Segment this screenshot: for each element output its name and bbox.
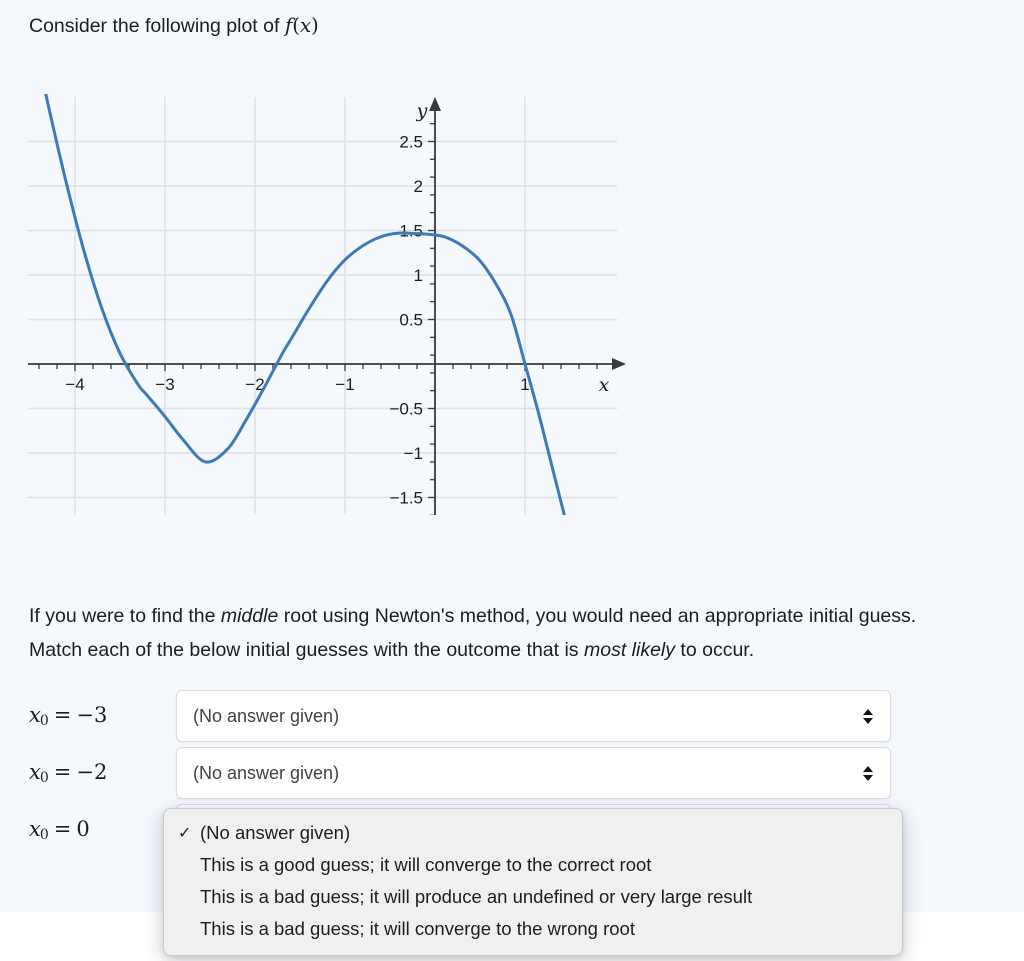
guess-subscript-1: 0	[40, 770, 49, 786]
y-axis-title: y	[416, 100, 428, 122]
dropdown-option-2[interactable]: This is a bad guess; it will produce an …	[164, 881, 902, 913]
dropdown-option-0[interactable]: ✓(No answer given)	[164, 817, 902, 849]
function-curve	[35, 45, 566, 515]
guess-subscript-0: 0	[40, 713, 49, 729]
initial-guess-label-2: x0=0	[29, 817, 176, 844]
y-tick-label: 1	[414, 266, 423, 285]
outcome-dropdown-menu[interactable]: ✓(No answer given)This is a good guess; …	[163, 808, 903, 956]
chevron-updown-icon[interactable]	[862, 705, 874, 727]
x-tick-label: −1	[335, 375, 354, 394]
initial-guess-label-0: x0=−3	[29, 703, 176, 730]
function-curve-path	[35, 45, 566, 515]
chevron-updown-icon[interactable]	[862, 762, 874, 784]
x-axis-arrow	[612, 358, 626, 370]
outcome-select-value-0: (No answer given)	[193, 706, 862, 727]
question-emphasis-most-likely: most likely	[584, 639, 675, 661]
y-tick-label: 2.5	[399, 133, 423, 152]
paren-open: (	[292, 14, 300, 37]
prompt-lead-text: Consider the following plot of	[29, 15, 285, 37]
y-axis-arrow	[429, 97, 441, 111]
question-part-3: to occur.	[675, 639, 754, 661]
guess-equals-1: =	[54, 760, 72, 784]
guess-value-0: −3	[76, 703, 107, 727]
guess-value-2: 0	[76, 817, 89, 841]
dropdown-option-3[interactable]: This is a bad guess; it will converge to…	[164, 913, 902, 945]
y-tick-label: −1.5	[389, 489, 423, 508]
guess-equals-0: =	[54, 703, 72, 727]
question-part-1: If you were to find the	[29, 605, 221, 627]
guess-subscript-2: 0	[40, 827, 49, 843]
dropdown-option-1[interactable]: This is a good guess; it will converge t…	[164, 849, 902, 881]
guess-value-1: −2	[76, 760, 107, 784]
function-variable-x: x	[300, 13, 311, 37]
x-tick-label: −4	[65, 375, 84, 394]
page-title: Consider the following plot of f(x)	[29, 12, 319, 39]
exercise-content: Consider the following plot of f(x) −4−3…	[0, 0, 1024, 961]
axis-titles: xy	[416, 100, 610, 396]
grid-lines	[28, 97, 617, 515]
outcome-select-0[interactable]: (No answer given)	[176, 690, 891, 742]
outcome-select-value-1: (No answer given)	[193, 763, 862, 784]
question-text: If you were to find the middle root usin…	[29, 599, 969, 667]
outcome-select-1[interactable]: (No answer given)	[176, 747, 891, 799]
x-tick-label: −3	[155, 375, 174, 394]
y-tick-label: −0.5	[389, 400, 423, 419]
plot-canvas: −4−3−2−112.521.510.5−0.5−1−1.5 xy	[0, 45, 660, 515]
dropdown-option-label: (No answer given)	[200, 822, 888, 844]
y-tick-label: 0.5	[399, 311, 423, 330]
y-tick-label: 1.5	[399, 222, 423, 241]
x-axis-title: x	[599, 374, 610, 396]
guess-equals-2: =	[54, 817, 72, 841]
function-plot: −4−3−2−112.521.510.5−0.5−1−1.5 xy	[0, 45, 660, 515]
dropdown-option-label: This is a bad guess; it will converge to…	[200, 918, 888, 940]
paren-close: )	[311, 14, 319, 37]
question-emphasis-middle: middle	[221, 605, 278, 627]
initial-guess-label-1: x0=−2	[29, 760, 176, 787]
y-tick-label: −1	[404, 444, 423, 463]
dropdown-option-label: This is a bad guess; it will produce an …	[200, 886, 888, 908]
dropdown-option-label: This is a good guess; it will converge t…	[200, 854, 888, 876]
match-row-1: x0=−2 (No answer given)	[29, 747, 994, 799]
y-tick-label: 2	[414, 177, 423, 196]
match-row-0: x0=−3 (No answer given)	[29, 690, 994, 742]
check-icon: ✓	[178, 823, 200, 843]
